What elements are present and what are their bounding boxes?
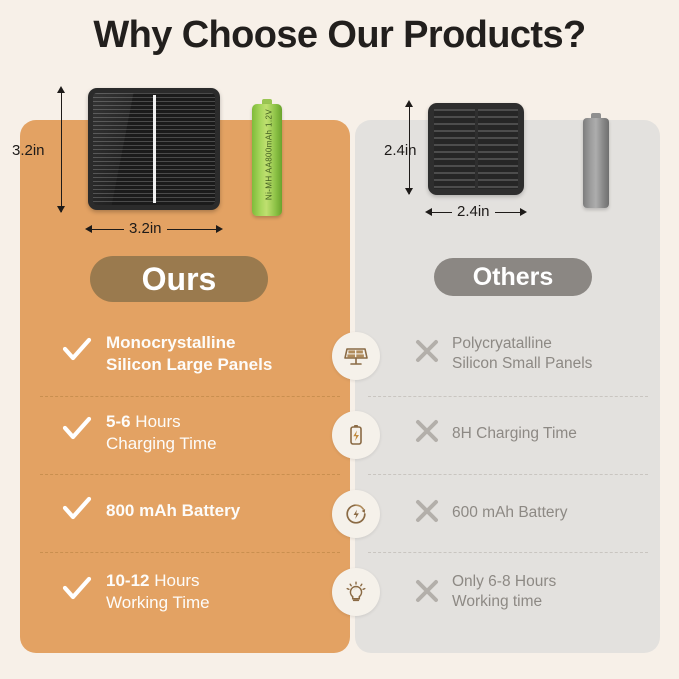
- others-height-label: 2.4in: [384, 142, 417, 159]
- slat-column-left: [434, 109, 475, 189]
- ours-width-label: 3.2in: [124, 220, 167, 237]
- others-feature-4-line2: Working time: [452, 593, 542, 610]
- ours-height-arrow-top: [57, 86, 65, 93]
- solar-panel-icon: [332, 332, 380, 380]
- others-feature-1-line1: Polycryatalline: [452, 335, 552, 352]
- cross-icon: [410, 574, 444, 608]
- others-feature-4: Only 6-8 Hours Working time: [452, 572, 556, 612]
- others-row-separator: [368, 552, 648, 553]
- ours-height-label: 3.2in: [12, 142, 45, 159]
- cross-icon: [410, 414, 444, 448]
- others-feature-2-line1: 8H Charging Time: [452, 425, 577, 442]
- ours-feature-2-rest: Hours: [131, 412, 181, 431]
- others-badge: Others: [434, 258, 592, 296]
- others-feature-3-line1: 600 mAh Battery: [452, 504, 567, 521]
- others-battery-body: [583, 118, 609, 208]
- ours-badge-label: Ours: [142, 261, 217, 298]
- check-icon: [60, 492, 94, 526]
- others-row-separator: [368, 396, 648, 397]
- others-width-arrow-right: [520, 208, 527, 216]
- ours-feature-2: 5-6 Hours Charging Time: [106, 411, 217, 455]
- cross-icon: [410, 494, 444, 528]
- ours-feature-2-bold: 5-6: [106, 412, 131, 431]
- ours-width-arrow-right: [216, 225, 223, 233]
- others-feature-1-line2: Silicon Small Panels: [452, 355, 592, 372]
- ours-feature-4: 10-12 Hours Working Time: [106, 570, 210, 614]
- check-icon: [60, 333, 94, 367]
- others-width-label: 2.4in: [452, 203, 495, 220]
- slat-column-right: [478, 109, 519, 189]
- others-width-arrow-left: [425, 208, 432, 216]
- others-feature-3: 600 mAh Battery: [452, 503, 567, 523]
- check-icon: [60, 412, 94, 446]
- ours-feature-4-rest: Hours: [149, 571, 199, 590]
- ours-battery-image: Ni-MH AA800mAh 1.2V: [252, 98, 282, 216]
- rechargeable-cycle-icon: [332, 490, 380, 538]
- ours-width-arrow-left: [85, 225, 92, 233]
- others-feature-2: 8H Charging Time: [452, 424, 577, 444]
- ours-feature-1-line2: Silicon Large Panels: [106, 355, 272, 374]
- others-row-separator: [368, 474, 648, 475]
- solar-cell-grid: [93, 93, 215, 205]
- ours-row-separator: [40, 474, 340, 475]
- light-bulb-icon: [332, 568, 380, 616]
- others-badge-label: Others: [473, 263, 554, 292]
- others-solar-slats: [434, 109, 518, 189]
- ours-feature-1-line1: Monocrystalline: [106, 333, 235, 352]
- solar-busbar: [153, 95, 156, 203]
- battery-print-label: Ni-MH AA800mAh 1.2V: [265, 100, 274, 210]
- cross-icon: [410, 334, 444, 368]
- others-height-arrow-top: [405, 100, 413, 107]
- others-battery-image: [583, 113, 609, 208]
- others-feature-4-line1: Only 6-8 Hours: [452, 573, 556, 590]
- ours-row-separator: [40, 552, 340, 553]
- ours-feature-1: Monocrystalline Silicon Large Panels: [106, 332, 272, 376]
- ours-feature-4-line2: Working Time: [106, 593, 210, 612]
- infographic-root: Why Choose Our Products? Ni-MH AA800mAh …: [0, 0, 679, 679]
- check-icon: [60, 572, 94, 606]
- others-solar-panel-image: [428, 103, 524, 195]
- others-feature-1: Polycryatalline Silicon Small Panels: [452, 334, 592, 374]
- ours-feature-2-line2: Charging Time: [106, 434, 217, 453]
- ours-feature-3: 800 mAh Battery: [106, 500, 240, 522]
- ours-feature-4-bold: 10-12: [106, 571, 149, 590]
- page-title: Why Choose Our Products?: [0, 14, 679, 57]
- battery-charging-icon: [332, 411, 380, 459]
- ours-solar-panel-image: [88, 88, 220, 210]
- ours-height-dim-line: [61, 92, 62, 212]
- ours-height-arrow-bottom: [57, 206, 65, 213]
- ours-row-separator: [40, 396, 340, 397]
- ours-feature-3-line1: 800 mAh Battery: [106, 501, 240, 520]
- ours-badge: Ours: [90, 256, 268, 302]
- others-height-arrow-bottom: [405, 188, 413, 195]
